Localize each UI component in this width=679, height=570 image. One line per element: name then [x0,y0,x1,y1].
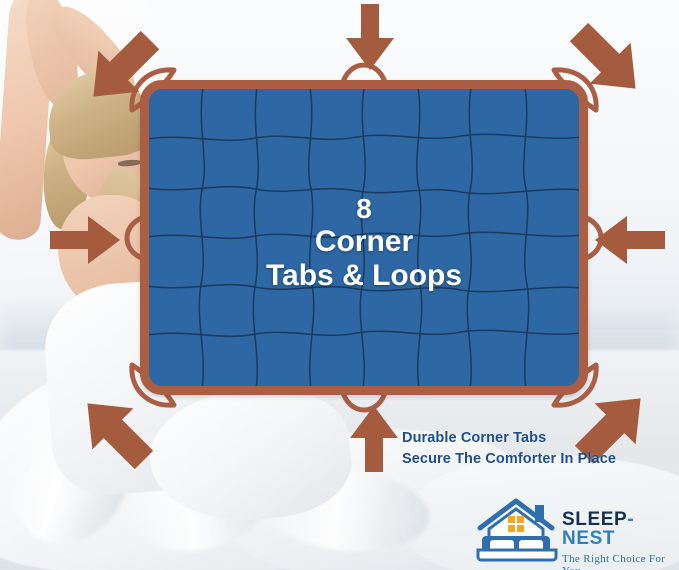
brand-tagline: The Right Choice For You [562,553,674,570]
brand-name: SLEEP-NEST [562,510,674,548]
brand-logo: SLEEP-NEST The Right Choice For You [476,498,674,564]
quilt-stitching [149,89,579,386]
arrow-top-right-diagonal [565,20,651,102]
house-with-bed-icon [476,498,562,562]
comforter-graphic: 8 Corner Tabs & Loops [140,80,588,395]
caption-line-2: Secure The Comforter In Place [402,449,664,470]
arrow-right-middle-left [593,213,665,267]
arrow-bottom-center-up [348,406,400,474]
arrow-bottom-left-diagonal [72,390,158,472]
arrow-top-center-down [344,4,396,72]
product-image: 8 Corner Tabs & Loops [0,0,679,570]
arrow-top-left-diagonal [78,28,164,110]
brand-wordmark: SLEEP-NEST The Right Choice For You [562,510,674,570]
brand-name-part1: SLEEP [562,509,627,530]
feature-caption: Durable Corner Tabs Secure The Comforter… [402,428,664,469]
arrow-left-middle-right [50,213,122,267]
comforter-body: 8 Corner Tabs & Loops [140,80,588,395]
caption-line-1: Durable Corner Tabs [402,428,664,449]
